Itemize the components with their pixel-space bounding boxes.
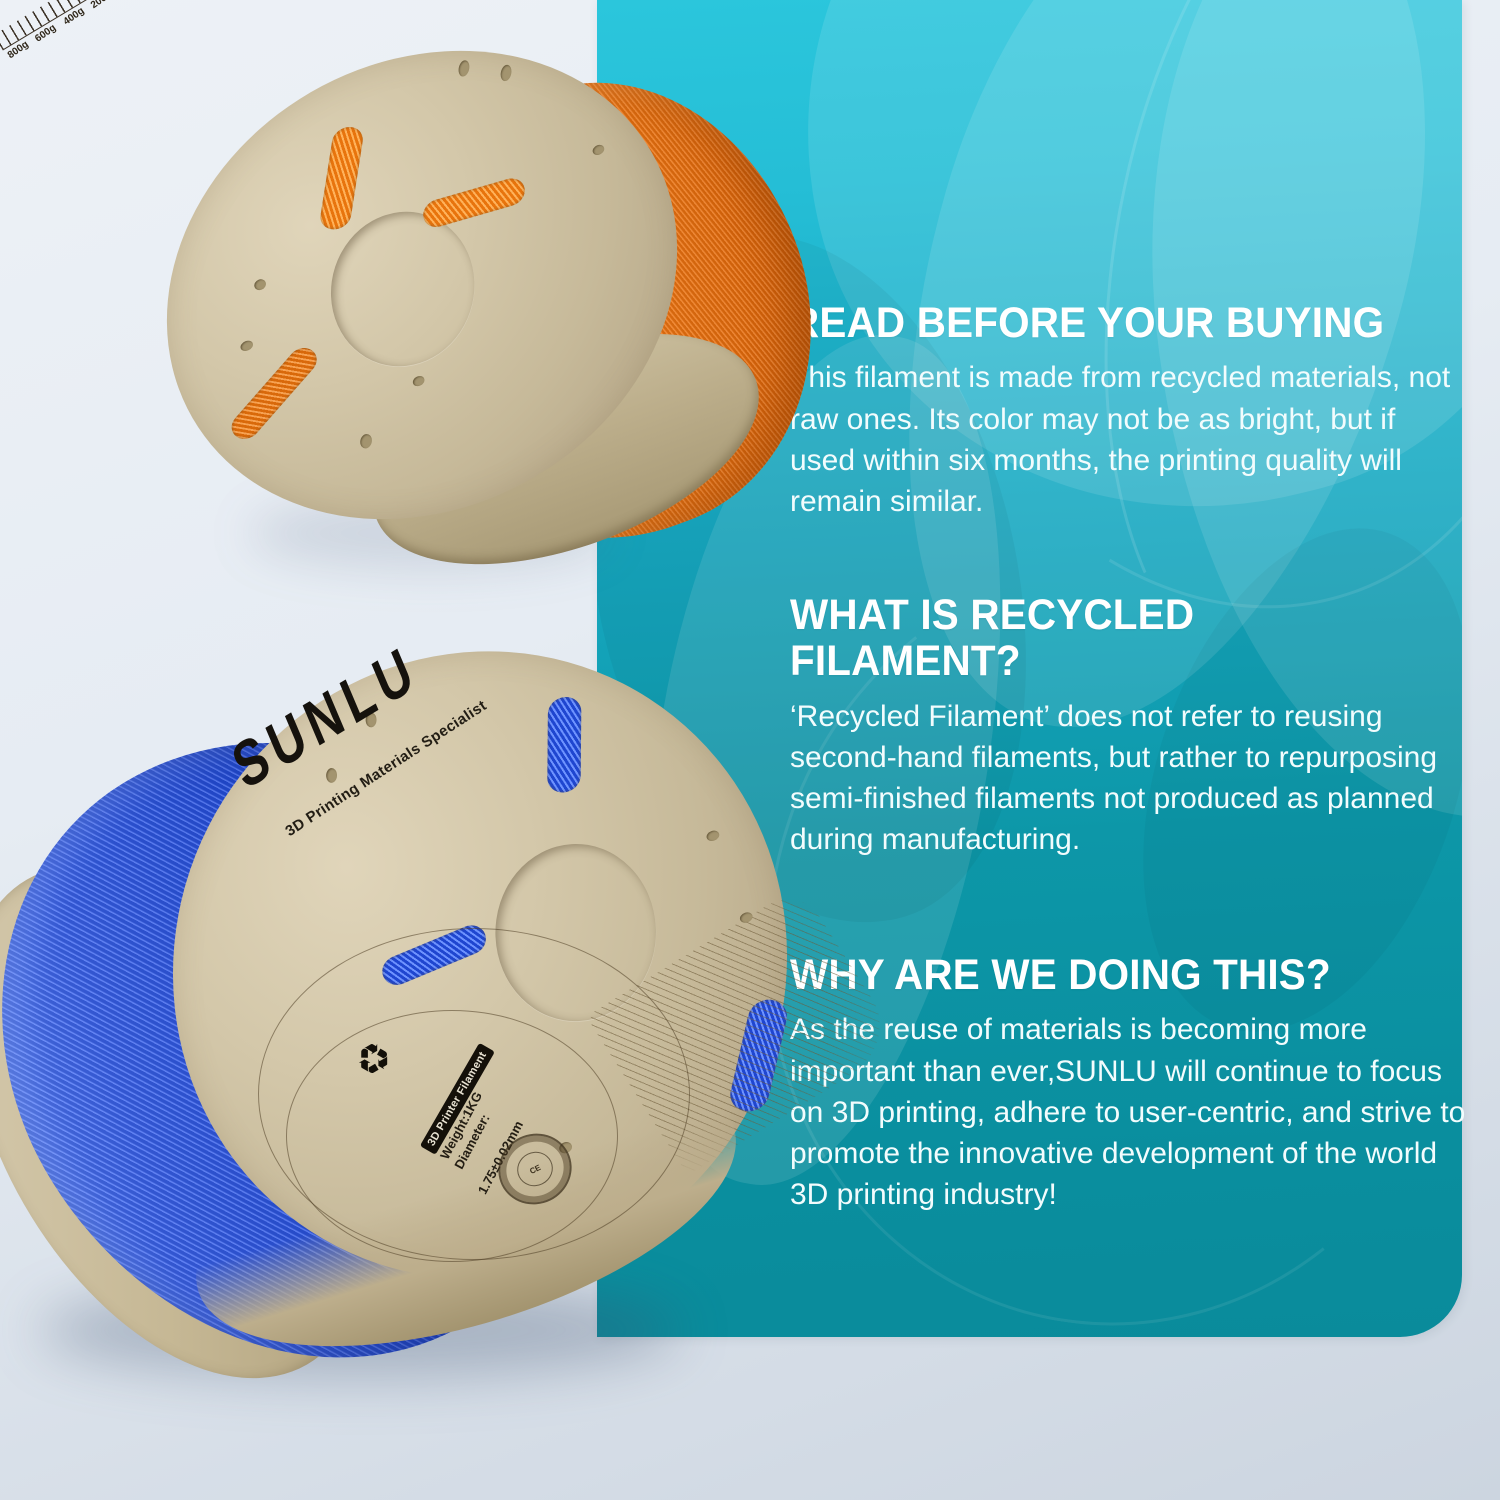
section-what-is-recycled-filament: WHAT IS RECYCLED FILAMENT? ‘Recycled Fil… — [790, 592, 1480, 860]
section-body: As the reuse of materials is becoming mo… — [790, 1009, 1466, 1214]
gauge-mark-800g: 800g — [6, 39, 31, 61]
section-body: ‘Recycled Filament’ does not refer to re… — [790, 696, 1466, 860]
orange-spool-slot — [421, 175, 527, 231]
orange-spool-slot — [318, 127, 365, 229]
blue-spool-slot — [378, 921, 490, 990]
blue-spool-pinhole — [705, 829, 720, 843]
section-body: This filament is made from recycled mate… — [790, 357, 1466, 521]
blue-spool-slot — [547, 696, 581, 794]
product-infographic: READ BEFORE YOUR BUYING This filament is… — [0, 0, 1500, 1500]
orange-spool-pinhole — [239, 339, 254, 353]
section-read-before-buying: READ BEFORE YOUR BUYING This filament is… — [790, 300, 1480, 522]
filament-weight-gauge: 800g 600g 400g 200g — [0, 0, 126, 85]
gauge-ticks — [0, 0, 106, 50]
section-why-are-we-doing-this: WHY ARE WE DOING THIS? As the reuse of m… — [790, 952, 1480, 1215]
orange-spool-pinhole — [412, 374, 426, 388]
section-heading: WHY ARE WE DOING THIS? — [790, 952, 1439, 998]
orange-spool-pinhole — [253, 277, 268, 291]
orange-spool-slot — [226, 343, 323, 444]
orange-spool-pinhole — [458, 60, 470, 76]
blue-filament-spool — [10, 620, 810, 1450]
gauge-mark-200g: 200g — [89, 0, 114, 11]
orange-spool-pinhole — [360, 433, 372, 449]
section-heading: WHAT IS RECYCLED FILAMENT? — [790, 592, 1439, 685]
orange-spool-pinhole — [591, 143, 605, 157]
gauge-mark-600g: 600g — [34, 22, 59, 44]
section-heading: READ BEFORE YOUR BUYING — [790, 300, 1439, 346]
orange-spool-pinhole — [500, 65, 512, 81]
gauge-mark-400g: 400g — [61, 6, 86, 28]
gauge-labels: 800g 600g 400g 200g — [6, 0, 115, 61]
blue-spool-pinhole — [365, 712, 377, 728]
blue-spool-pinhole — [326, 767, 338, 783]
orange-filament-spool — [150, 15, 790, 595]
